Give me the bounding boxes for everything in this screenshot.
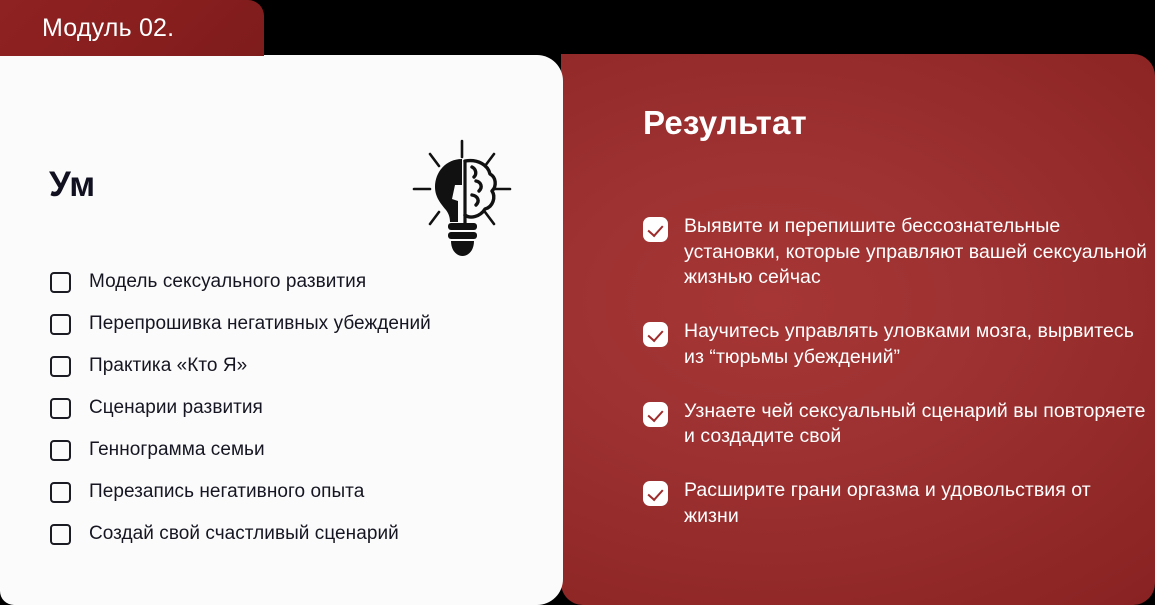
result-list-item-label: Узнаете чей сексуальный сценарий вы повт… [684, 399, 1149, 450]
checkbox-unchecked-icon[interactable] [50, 482, 71, 503]
mind-checklist-item[interactable]: Модель сексуального развития [50, 261, 543, 303]
mind-checklist-item[interactable]: Практика «Кто Я» [50, 345, 543, 387]
checkbox-checked-icon [643, 322, 668, 347]
checkbox-unchecked-icon[interactable] [50, 356, 71, 377]
mind-checklist-item-label: Практика «Кто Я» [89, 354, 247, 378]
result-panel-title: Результат [643, 106, 807, 139]
module-tab-label: Модуль 02. [0, 16, 174, 41]
lightbulb-brain-icon [408, 137, 516, 257]
mind-checklist-item-label: Модель сексуального развития [89, 270, 366, 294]
mind-checklist-item-label: Геннограмма семьи [89, 438, 265, 462]
mind-card: Ум [0, 55, 563, 605]
mind-checklist-item[interactable]: Перепрошивка негативных убеждений [50, 303, 543, 345]
checkbox-unchecked-icon[interactable] [50, 314, 71, 335]
result-list-item: Расширите грани оргазма и удовольствия о… [643, 478, 1149, 529]
checkbox-checked-icon [643, 402, 668, 427]
mind-checklist-item[interactable]: Геннограмма семьи [50, 429, 543, 471]
mind-checklist-item[interactable]: Сценарии развития [50, 387, 543, 429]
checkbox-unchecked-icon[interactable] [50, 272, 71, 293]
mind-checklist-item-label: Создай свой счастливый сценарий [89, 522, 399, 546]
module-tab[interactable]: Модуль 02. [0, 0, 264, 56]
mind-checklist-item[interactable]: Создай свой счастливый сценарий [50, 513, 543, 555]
result-list-item-label: Научитесь управлять уловками мозга, вырв… [684, 319, 1149, 370]
mind-checklist: Модель сексуального развитияПерепрошивка… [50, 261, 543, 555]
checkbox-checked-icon [643, 217, 668, 242]
mind-card-title: Ум [49, 167, 95, 202]
result-panel: Результат Выявите и перепишите бессознат… [561, 54, 1155, 605]
result-list-item-label: Расширите грани оргазма и удовольствия о… [684, 478, 1149, 529]
checkbox-unchecked-icon[interactable] [50, 398, 71, 419]
result-list: Выявите и перепишите бессознательные уст… [643, 214, 1149, 530]
mind-checklist-item-label: Перепрошивка негативных убеждений [89, 312, 431, 336]
result-list-item: Выявите и перепишите бессознательные уст… [643, 214, 1149, 291]
slide-root: Модуль 02. Результат Выявите и перепишит… [0, 0, 1155, 605]
mind-checklist-item[interactable]: Перезапись негативного опыта [50, 471, 543, 513]
result-list-item-label: Выявите и перепишите бессознательные уст… [684, 214, 1149, 291]
checkbox-checked-icon [643, 481, 668, 506]
mind-checklist-item-label: Сценарии развития [89, 396, 263, 420]
mind-checklist-item-label: Перезапись негативного опыта [89, 480, 364, 504]
checkbox-unchecked-icon[interactable] [50, 524, 71, 545]
checkbox-unchecked-icon[interactable] [50, 440, 71, 461]
result-list-item: Научитесь управлять уловками мозга, вырв… [643, 319, 1149, 370]
result-list-item: Узнаете чей сексуальный сценарий вы повт… [643, 399, 1149, 450]
